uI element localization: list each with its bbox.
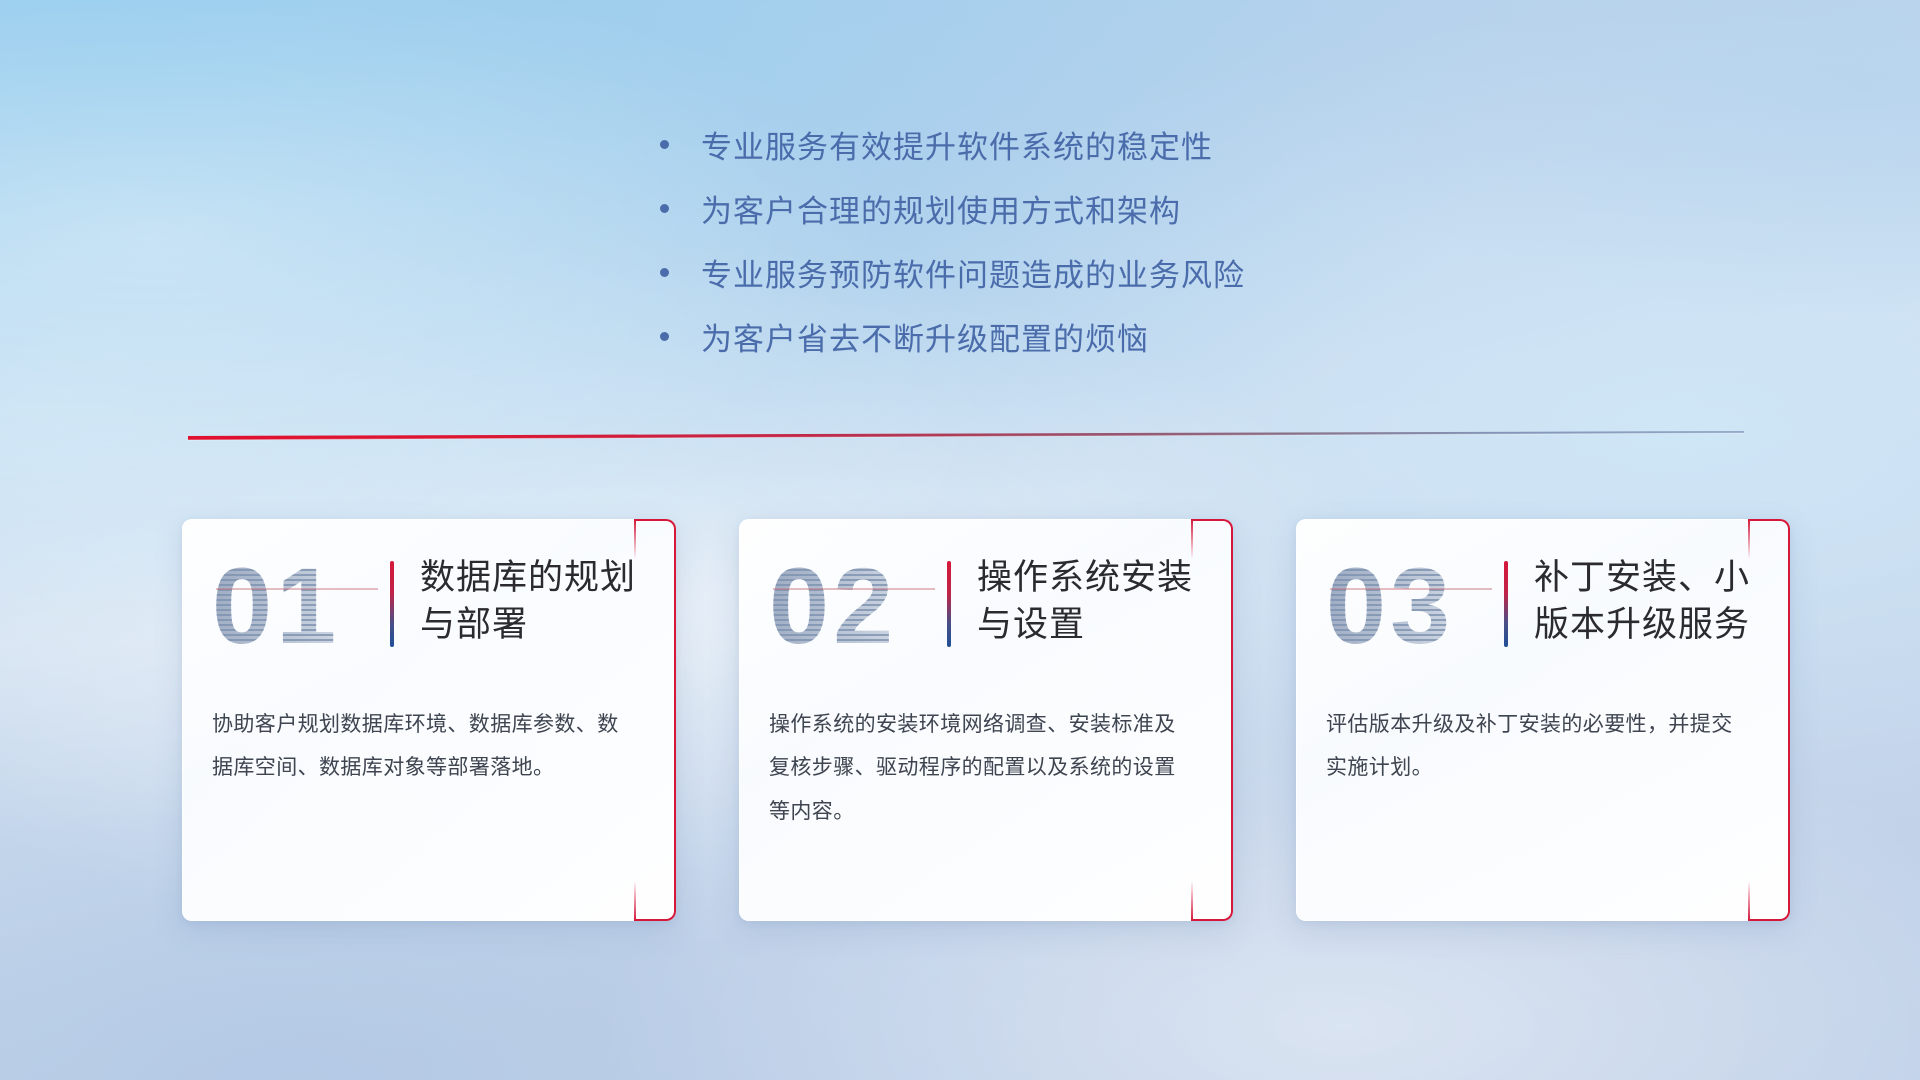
card-title: 操作系统安装与设置 bbox=[977, 553, 1203, 649]
card-number-02: 02 bbox=[769, 549, 945, 662]
bullet-text: 为客户合理的规划使用方式和架构 bbox=[701, 186, 1181, 231]
list-item: 为客户省去不断升级配置的烦恼 bbox=[660, 304, 1245, 368]
bullet-dot-icon bbox=[660, 268, 669, 277]
bullet-text: 专业服务预防软件问题造成的业务风险 bbox=[701, 250, 1245, 295]
bullet-text: 专业服务有效提升软件系统的稳定性 bbox=[701, 122, 1213, 167]
service-card-01[interactable]: 01 数据库的规划与部署 协助客户规划数据库环境、数据库参数、数据库空间、数据库… bbox=[182, 519, 676, 921]
section-divider bbox=[188, 424, 1744, 446]
card-body-text: 协助客户规划数据库环境、数据库参数、数据库空间、数据库对象等部署落地。 bbox=[182, 697, 676, 790]
card-divider-bar bbox=[947, 561, 951, 647]
service-card-row: 01 数据库的规划与部署 协助客户规划数据库环境、数据库参数、数据库空间、数据库… bbox=[182, 519, 1790, 921]
card-header: 01 数据库的规划与部署 bbox=[182, 519, 676, 697]
card-divider-bar bbox=[1504, 561, 1508, 647]
bullet-dot-icon bbox=[660, 332, 669, 341]
benefits-bullet-list: 专业服务有效提升软件系统的稳定性 为客户合理的规划使用方式和架构 专业服务预防软… bbox=[660, 112, 1245, 368]
bullet-dot-icon bbox=[660, 204, 669, 213]
bullet-text: 为客户省去不断升级配置的烦恼 bbox=[701, 314, 1149, 359]
card-header: 03 补丁安装、小版本升级服务 bbox=[1296, 519, 1790, 697]
service-card-02[interactable]: 02 操作系统安装与设置 操作系统的安装环境网络调查、安装标准及复核步骤、驱动程… bbox=[739, 519, 1233, 921]
card-header: 02 操作系统安装与设置 bbox=[739, 519, 1233, 697]
card-title: 补丁安装、小版本升级服务 bbox=[1534, 553, 1760, 649]
card-number-03: 03 bbox=[1326, 549, 1502, 662]
list-item: 专业服务有效提升软件系统的稳定性 bbox=[660, 112, 1245, 176]
service-card-03[interactable]: 03 补丁安装、小版本升级服务 评估版本升级及补丁安装的必要性，并提交实施计划。 bbox=[1296, 519, 1790, 921]
card-body-text: 评估版本升级及补丁安装的必要性，并提交实施计划。 bbox=[1296, 697, 1790, 790]
slide-canvas: 专业服务有效提升软件系统的稳定性 为客户合理的规划使用方式和架构 专业服务预防软… bbox=[0, 0, 1920, 1080]
bullet-dot-icon bbox=[660, 140, 669, 149]
divider-shape-icon bbox=[188, 424, 1744, 446]
card-title: 数据库的规划与部署 bbox=[420, 553, 646, 649]
card-divider-bar bbox=[390, 561, 394, 647]
card-number-01: 01 bbox=[212, 549, 388, 662]
list-item: 为客户合理的规划使用方式和架构 bbox=[660, 176, 1245, 240]
card-body-text: 操作系统的安装环境网络调查、安装标准及复核步骤、驱动程序的配置以及系统的设置等内… bbox=[739, 697, 1233, 833]
list-item: 专业服务预防软件问题造成的业务风险 bbox=[660, 240, 1245, 304]
